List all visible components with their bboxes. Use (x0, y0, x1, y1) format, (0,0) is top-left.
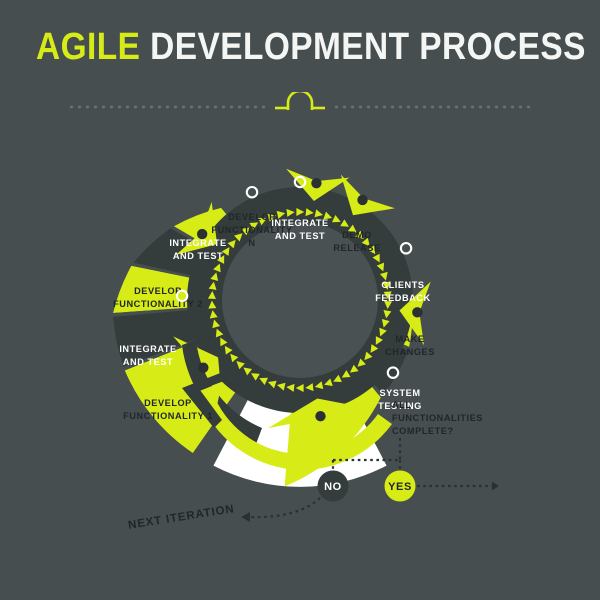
segment-marker-all-functionalities (315, 411, 325, 421)
segment-label-all-functionalities: ALLFUNCTIONALITIESCOMPLETE? (392, 400, 483, 436)
arrow-right-icon (492, 482, 499, 491)
yes-exit-path (417, 482, 499, 491)
title-accent-word: AGILE (36, 26, 140, 68)
segment-marker-demo-release (357, 195, 367, 205)
decision-no-badge[interactable]: NO (318, 471, 349, 502)
agile-wheel: INTEGRATEAND TESTDEMORELEASECLIENTSFEEDB… (0, 108, 600, 600)
decision-no-label: NO (324, 481, 342, 493)
segment-marker-develop-functionality-2 (197, 229, 207, 239)
segment-marker-clients-feedback (401, 243, 411, 253)
segment-marker-make-changes (412, 307, 422, 317)
next-iteration-path (241, 498, 320, 522)
segment-marker-develop-functionality-n (311, 178, 321, 188)
segment-marker-integrate-test-3 (247, 187, 257, 197)
next-iteration-label: NEXT ITERATION (127, 503, 235, 532)
decision-yes-badge[interactable]: YES (385, 471, 416, 502)
decision-yes-label: YES (388, 481, 412, 493)
title-rest-words: DEVELOPMENT PROCESS (150, 26, 586, 68)
infographic-canvas: AGILE DEVELOPMENT PROCESS (0, 0, 600, 600)
page-title: AGILE DEVELOPMENT PROCESS (0, 28, 600, 66)
segment-marker-develop-functionality-1 (198, 362, 208, 372)
arrow-left-icon (241, 512, 250, 522)
